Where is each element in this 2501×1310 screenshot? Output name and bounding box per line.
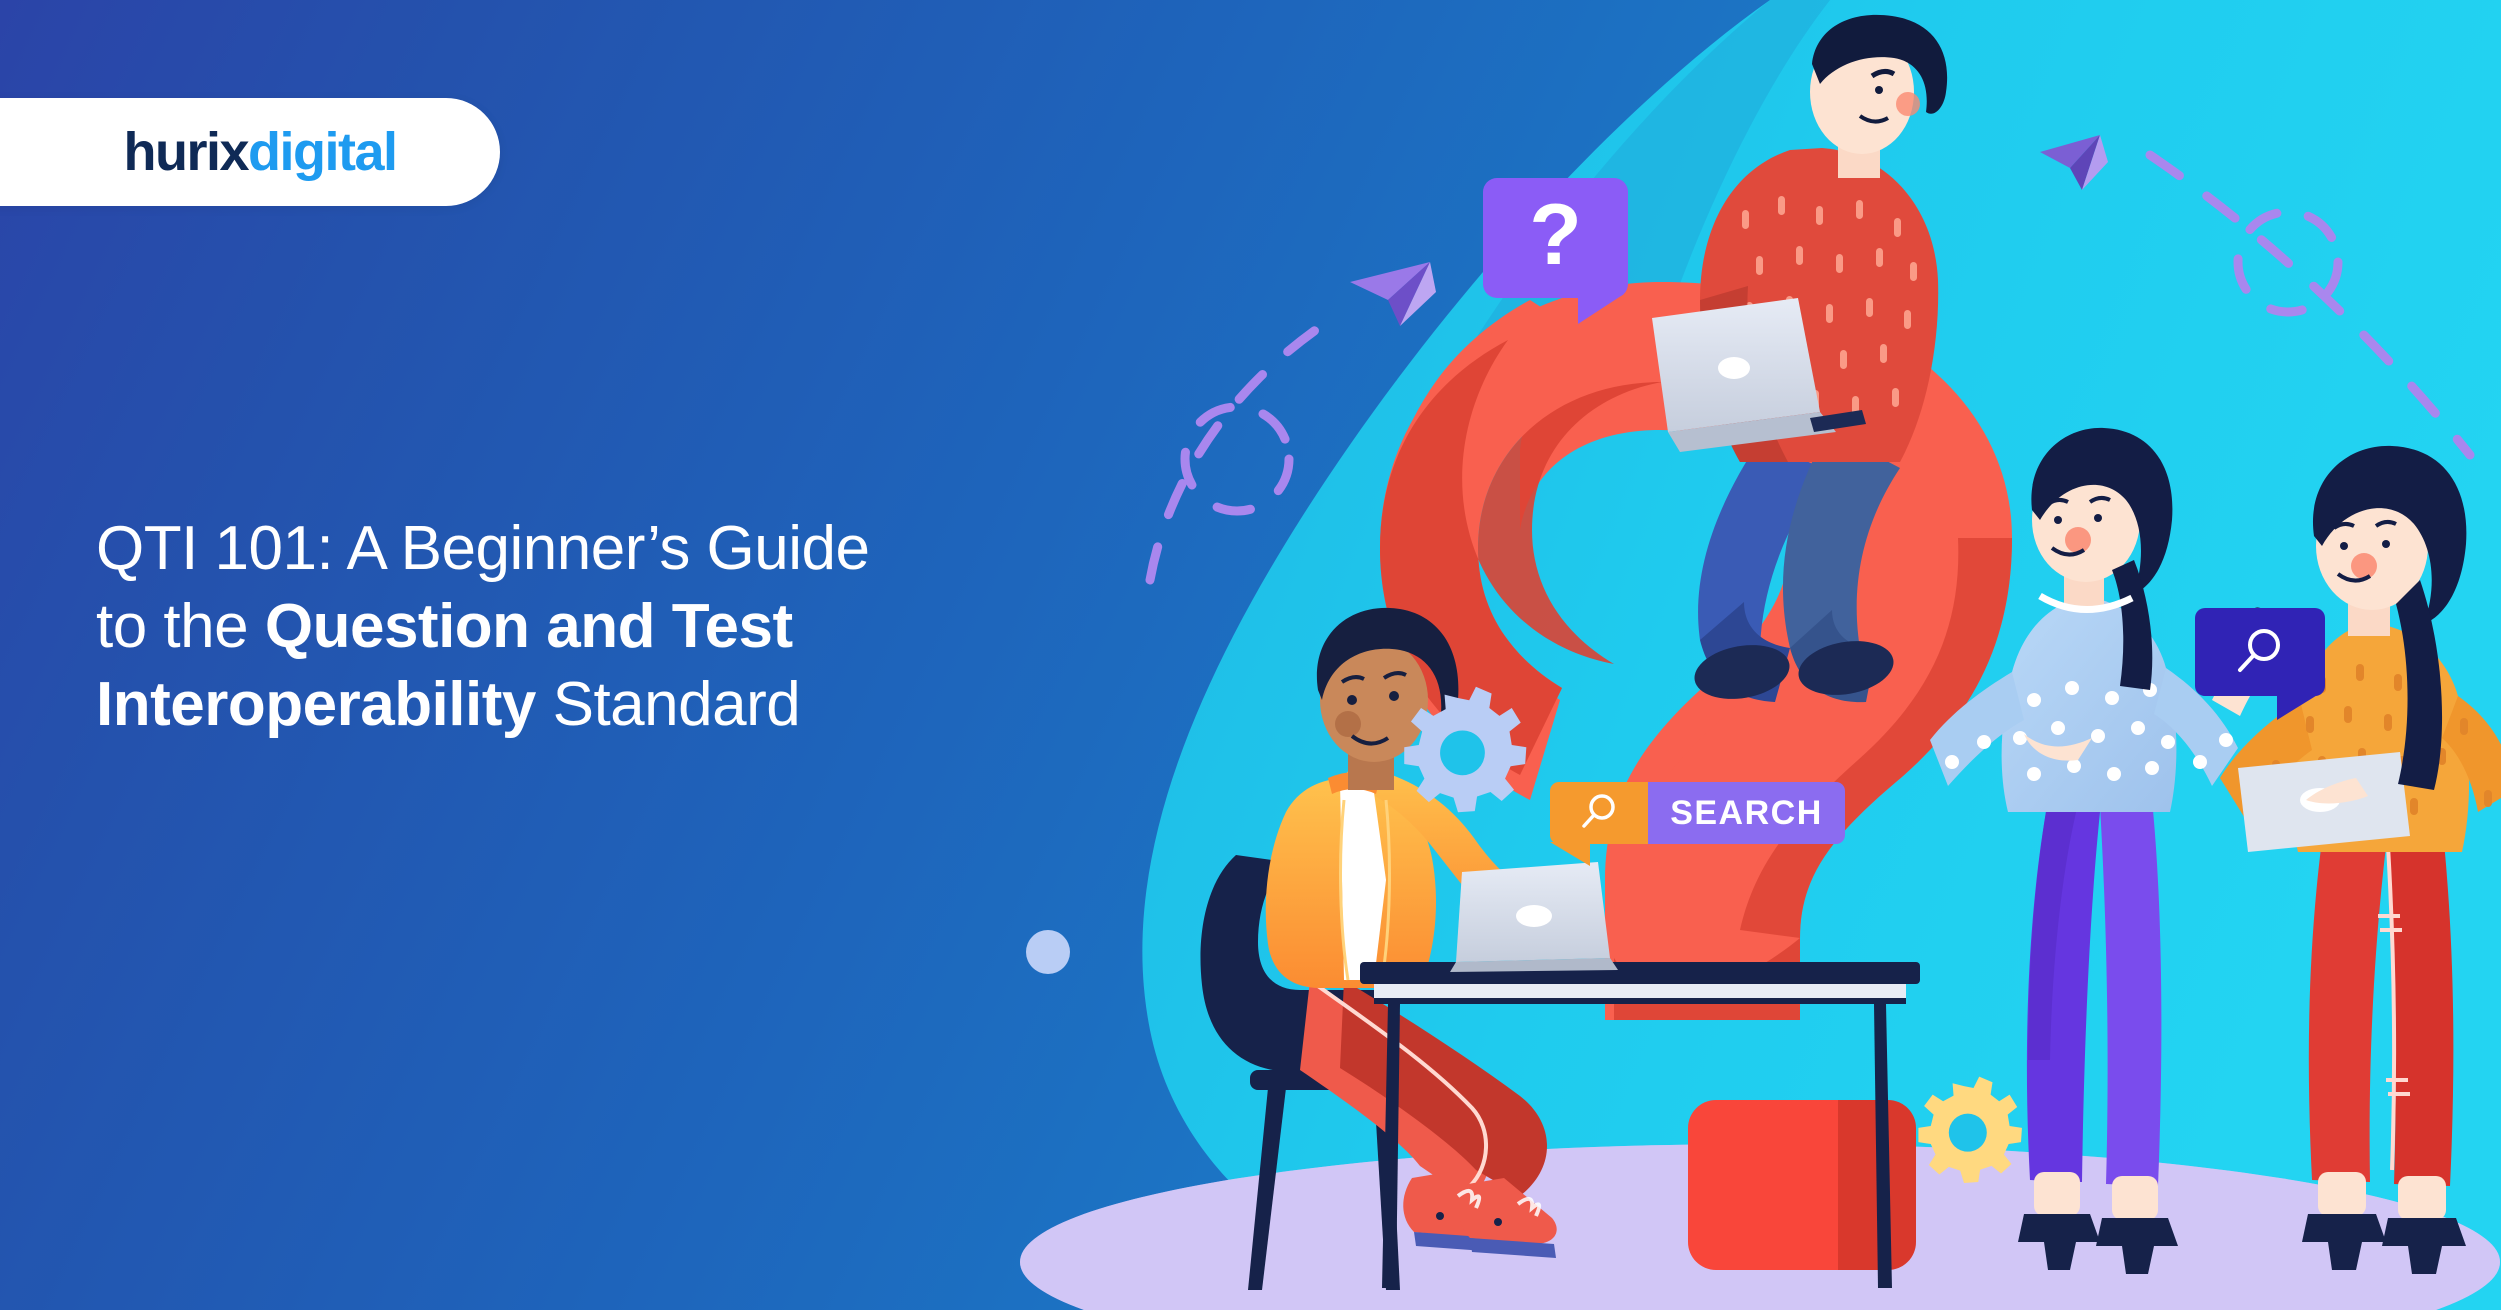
blog-hero-banner: hurixdigital QTI 101: A Beginner’s Guide… (0, 0, 2501, 1310)
headline-line-3: Interoperability Standard (96, 666, 1116, 744)
accent-dot-icon (1026, 930, 1070, 974)
headline-line-2-prefix: to the (96, 592, 265, 661)
desk (1360, 962, 1920, 984)
bubble-tail (2277, 694, 2319, 720)
page-title: QTI 101: A Beginner’s Guide to the Quest… (96, 510, 1116, 744)
search-badge-tail (1550, 842, 1590, 866)
question-mark-bubble: ? (1483, 178, 1628, 298)
magnifier-icon (2232, 624, 2288, 680)
headline-line-1: QTI 101: A Beginner’s Guide (96, 510, 1116, 588)
headline-line-2-bold: Question and Test (265, 592, 793, 661)
search-icon-panel (1550, 782, 1648, 844)
magnifier-bubble (2195, 608, 2325, 696)
bubble-tail (1578, 294, 1624, 324)
headline-line-3-bold: Interoperability (96, 670, 536, 739)
headline-line-2: to the Question and Test (96, 588, 1116, 666)
headline-line-3-suffix: Standard (536, 670, 800, 739)
logo-text-digital: digital (248, 122, 397, 182)
question-mark-icon: ? (1529, 192, 1582, 278)
search-icon (1577, 791, 1621, 835)
search-label-panel: SEARCH (1648, 782, 1845, 844)
search-badge[interactable]: SEARCH (1550, 782, 1845, 844)
brand-logo[interactable]: hurixdigital (0, 98, 500, 206)
search-label: SEARCH (1670, 794, 1823, 833)
logo-wordmark: hurixdigital (63, 125, 396, 179)
logo-text-hurix: hurix (123, 122, 248, 182)
